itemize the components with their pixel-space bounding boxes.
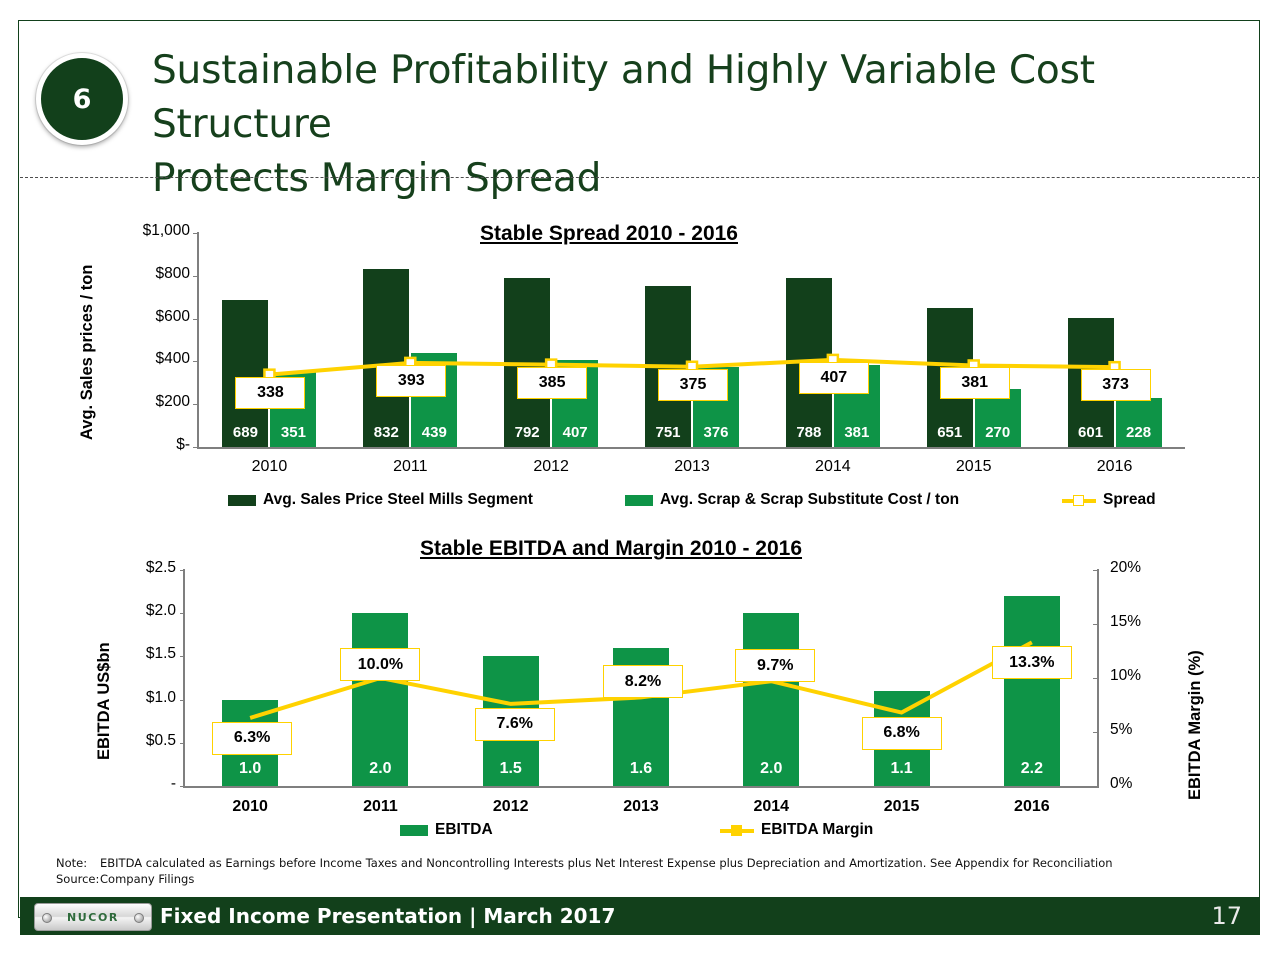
chart2-y-axis-line: [183, 569, 185, 787]
chart2-bar-label-ebitda: 1.6: [613, 760, 669, 778]
chart2-margin-line: [0, 0, 1280, 960]
chart2-y2-axis-title: EBITDA Margin (%): [1186, 650, 1205, 800]
chart2-x-label: 2016: [972, 798, 1092, 816]
source-line: Source:Company Filings: [56, 871, 1113, 887]
chart2-bar-label-ebitda: 1.1: [874, 760, 930, 778]
note-key: Note:: [56, 855, 100, 871]
chart-stable-ebitda: Stable EBITDA and Margin 2010 - 2016 EBI…: [0, 0, 1280, 960]
chart2-x-label: 2014: [711, 798, 831, 816]
rivet-icon-left: [42, 913, 52, 923]
source-key: Source:: [56, 871, 100, 887]
legend-swatch-icon-ebitda: [400, 825, 428, 836]
footer-bar: NUCOR Fixed Income Presentation | March …: [20, 897, 1260, 935]
chart2-y-tick-label: $1.0: [96, 689, 176, 707]
legend-line-marker-icon-margin: [720, 823, 754, 837]
chart2-x-label: 2015: [842, 798, 962, 816]
rivet-icon-right: [134, 913, 144, 923]
chart2-x-axis-line: [183, 786, 1099, 788]
note-text: EBITDA calculated as Earnings before Inc…: [100, 856, 1113, 870]
footer-title: Fixed Income Presentation | March 2017: [160, 904, 615, 928]
chart2-margin-callout: 7.6%: [475, 708, 555, 741]
note-line: Note:EBITDA calculated as Earnings befor…: [56, 855, 1113, 871]
chart2-y2-axis-line: [1097, 569, 1099, 787]
chart2-legend-label-1: EBITDA Margin: [761, 821, 873, 839]
chart2-y-tick-label: $2.5: [96, 559, 176, 577]
chart2-x-label: 2012: [451, 798, 571, 816]
chart2-y-tick-label: $0.5: [96, 732, 176, 750]
chart2-bar-ebitda: 2.2: [1004, 596, 1060, 786]
chart2-y-tick-label: -: [96, 775, 176, 793]
footnotes: Note:EBITDA calculated as Earnings befor…: [56, 855, 1113, 887]
chart2-bar-ebitda: 2.0: [743, 613, 799, 786]
chart2-title: Stable EBITDA and Margin 2010 - 2016: [420, 537, 802, 561]
chart2-y2-tick-label: 10%: [1110, 667, 1170, 685]
chart2-bar-ebitda: 2.0: [352, 613, 408, 786]
chart2-bar-label-ebitda: 1.5: [483, 760, 539, 778]
chart2-y2-tick-label: 0%: [1110, 775, 1170, 793]
chart2-legend-label-0: EBITDA: [435, 821, 493, 839]
chart2-x-label: 2011: [320, 798, 440, 816]
chart2-x-label: 2010: [190, 798, 310, 816]
chart2-margin-callout: 10.0%: [340, 648, 420, 681]
chart2-margin-callout: 9.7%: [735, 649, 815, 682]
chart2-y2-tick-label: 15%: [1110, 613, 1170, 631]
chart2-legend-item-ebitda[interactable]: EBITDA: [400, 821, 493, 839]
page-number: 17: [1211, 902, 1242, 930]
chart2-x-label: 2013: [581, 798, 701, 816]
chart2-margin-callout: 13.3%: [992, 646, 1072, 679]
chart2-y-tick-label: $1.5: [96, 645, 176, 663]
chart2-bar-label-ebitda: 2.0: [743, 760, 799, 778]
source-text: Company Filings: [100, 872, 194, 886]
chart2-bar-label-ebitda: 2.2: [1004, 760, 1060, 778]
chart2-y2-tick-label: 20%: [1110, 559, 1170, 577]
chart2-bar-label-ebitda: 2.0: [352, 760, 408, 778]
nucor-logo: NUCOR: [34, 903, 152, 931]
chart2-y-tick-label: $2.0: [96, 602, 176, 620]
chart2-legend-item-ebitda-margin[interactable]: EBITDA Margin: [720, 821, 873, 839]
logo-wordmark: NUCOR: [67, 911, 119, 924]
chart2-bar-label-ebitda: 1.0: [222, 760, 278, 778]
chart2-y2-tick-label: 5%: [1110, 721, 1170, 739]
slide: 6 Sustainable Profitability and Highly V…: [0, 0, 1280, 960]
chart2-margin-callout: 8.2%: [603, 665, 683, 698]
chart2-margin-callout: 6.8%: [862, 717, 942, 750]
chart2-margin-callout: 6.3%: [212, 722, 292, 755]
